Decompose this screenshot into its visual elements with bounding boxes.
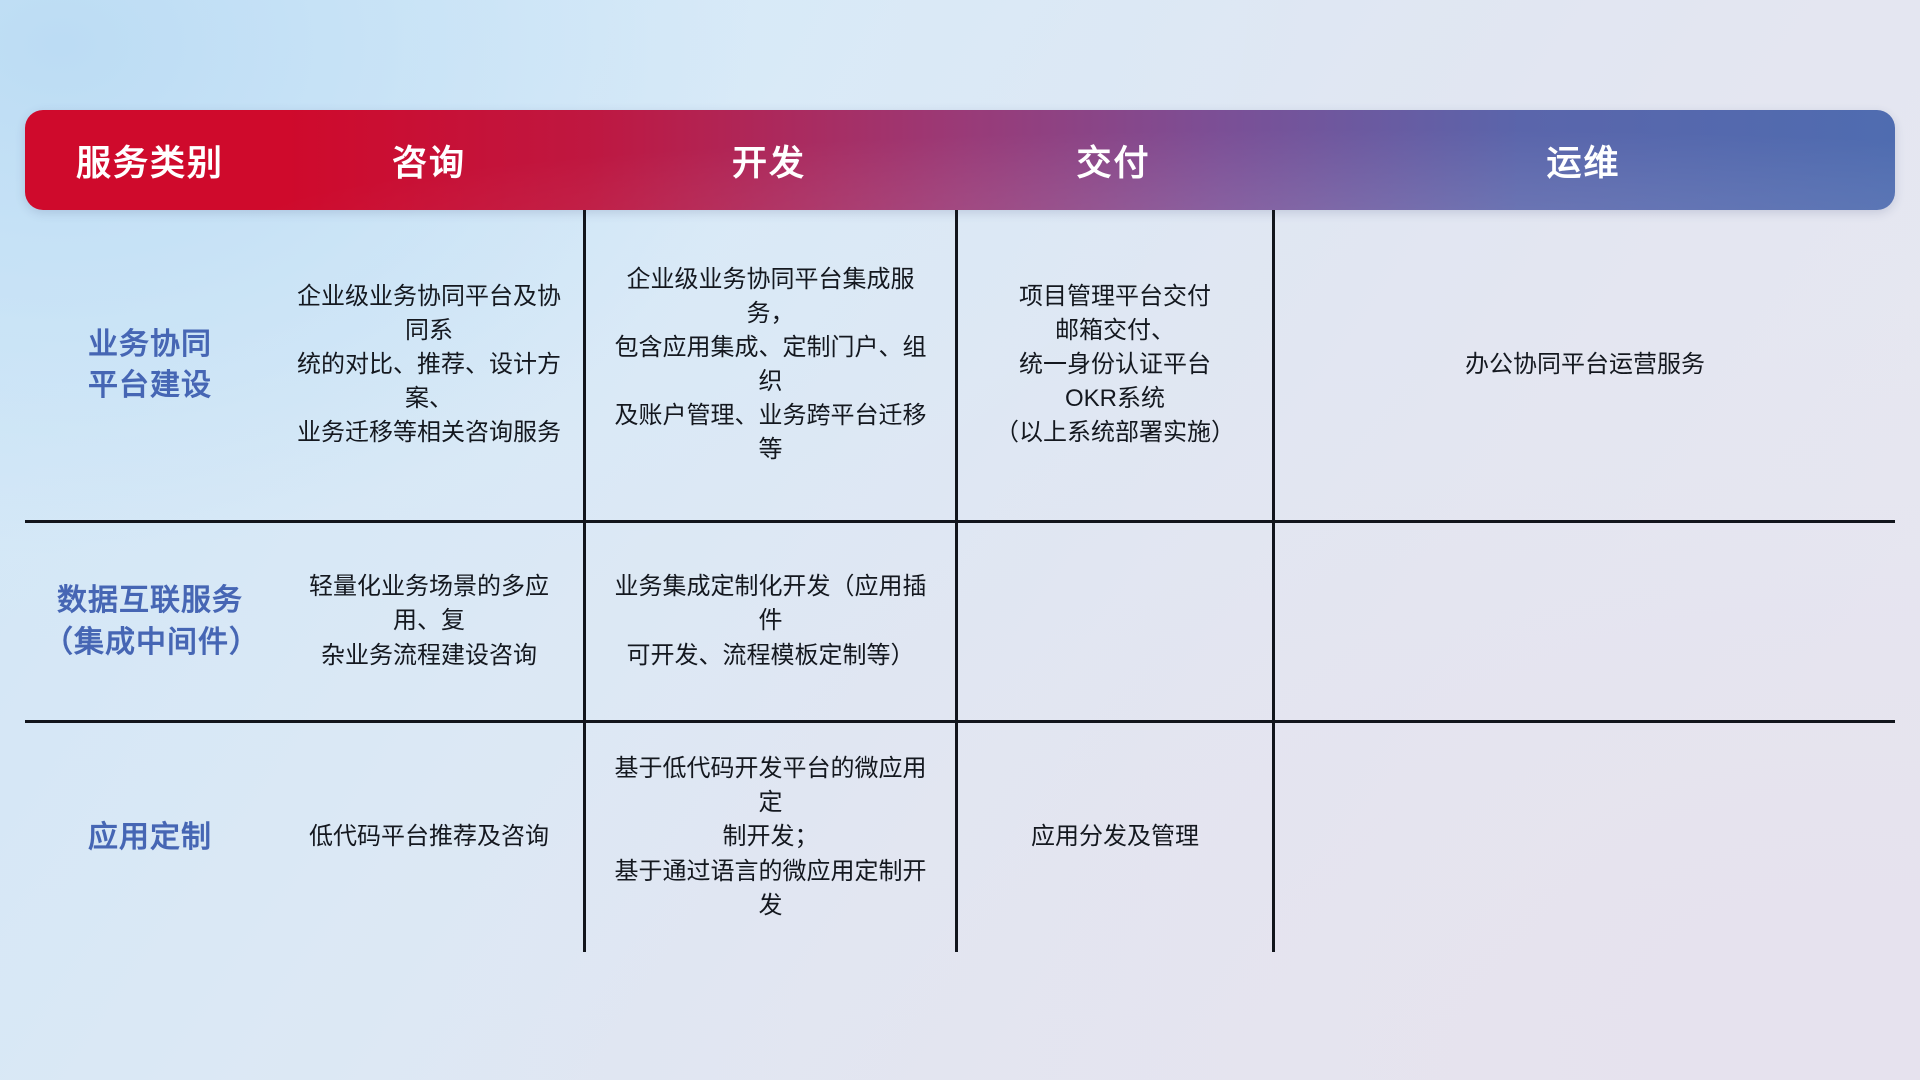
cell-development: 企业级业务协同平台集成服务， 包含应用集成、定制门户、组织 及账户管理、业务跨平…	[583, 210, 955, 520]
column-header-development: 开发	[583, 135, 955, 186]
table-header-row: 服务类别 咨询 开发 交付 运维	[25, 110, 1895, 210]
cell-consulting: 轻量化业务场景的多应用、复 杂业务流程建设咨询	[275, 523, 583, 720]
table-row: 数据互联服务 （集成中间件） 轻量化业务场景的多应用、复 杂业务流程建设咨询 业…	[25, 520, 1895, 720]
cell-development: 基于低代码开发平台的微应用定 制开发； 基于通过语言的微应用定制开发	[583, 723, 955, 952]
cell-consulting: 企业级业务协同平台及协同系 统的对比、推荐、设计方案、 业务迁移等相关咨询服务	[275, 210, 583, 520]
cell-operations	[1272, 723, 1895, 952]
cell-consulting: 低代码平台推荐及咨询	[275, 723, 583, 952]
cell-category: 应用定制	[25, 723, 275, 952]
cell-delivery: 项目管理平台交付 邮箱交付、 统一身份认证平台 OKR系统 （以上系统部署实施）	[955, 210, 1272, 520]
column-header-delivery: 交付	[955, 135, 1272, 186]
column-header-category: 服务类别	[25, 135, 275, 186]
table-row: 业务协同 平台建设 企业级业务协同平台及协同系 统的对比、推荐、设计方案、 业务…	[25, 210, 1895, 520]
column-header-operations: 运维	[1272, 135, 1895, 186]
cell-category: 数据互联服务 （集成中间件）	[25, 523, 275, 720]
table-row: 应用定制 低代码平台推荐及咨询 基于低代码开发平台的微应用定 制开发； 基于通过…	[25, 720, 1895, 952]
cell-delivery	[955, 523, 1272, 720]
cell-operations	[1272, 523, 1895, 720]
cell-development: 业务集成定制化开发（应用插件 可开发、流程模板定制等）	[583, 523, 955, 720]
service-matrix-table: 服务类别 咨询 开发 交付 运维 业务协同 平台建设 企业级业务协同平台及协同系…	[25, 110, 1895, 958]
cell-category: 业务协同 平台建设	[25, 210, 275, 520]
cell-delivery: 应用分发及管理	[955, 723, 1272, 952]
table-body: 业务协同 平台建设 企业级业务协同平台及协同系 统的对比、推荐、设计方案、 业务…	[25, 210, 1895, 952]
column-header-consulting: 咨询	[275, 135, 583, 186]
cell-operations: 办公协同平台运营服务	[1272, 210, 1895, 520]
